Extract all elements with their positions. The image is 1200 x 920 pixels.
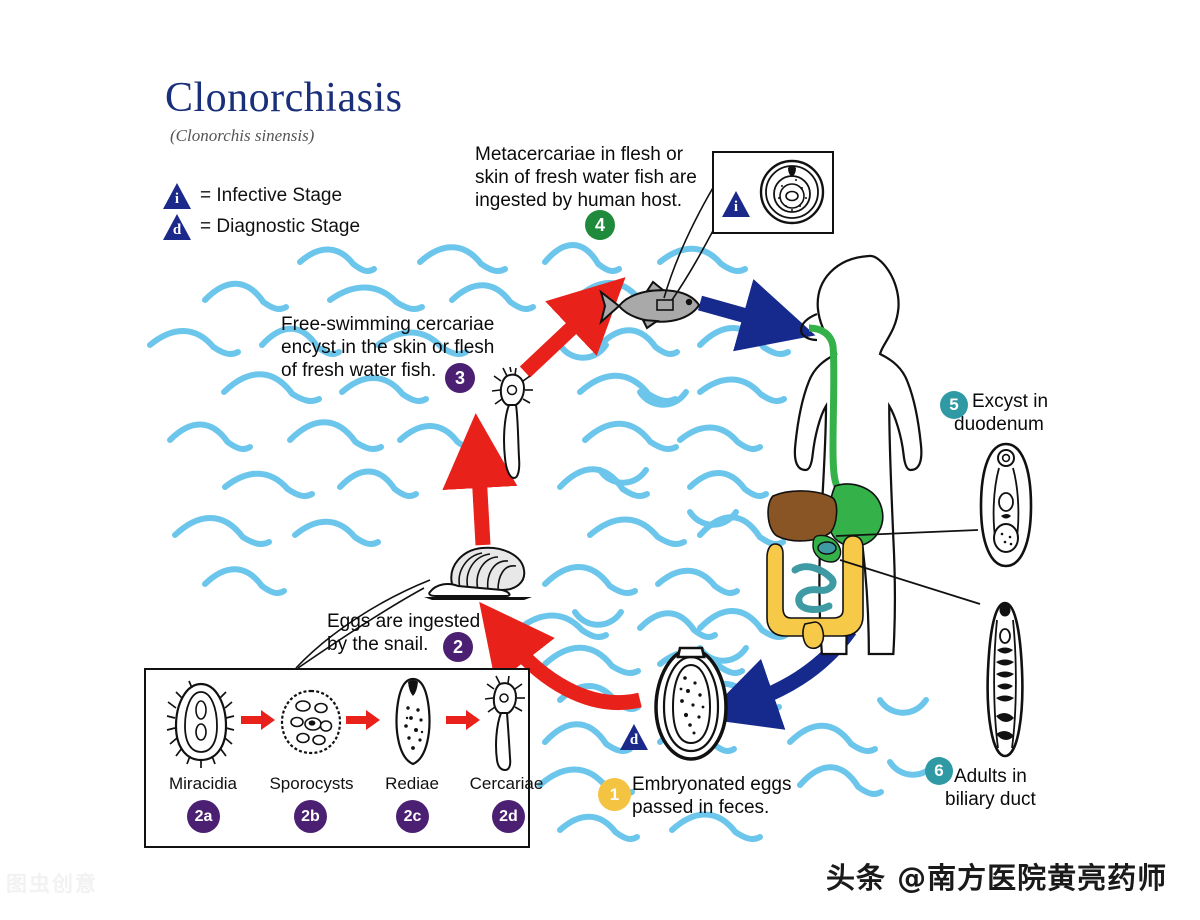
metacercaria-cyst-illustration: [758, 158, 826, 226]
infective-stage-icon: i: [163, 183, 191, 209]
stage-badge-2b: 2b: [294, 800, 327, 833]
legend-diagnostic-stage: d = Diagnostic Stage: [163, 214, 360, 240]
step-1-line-2: passed in feces.: [632, 796, 812, 819]
adult-oral-sucker: [1000, 604, 1011, 617]
egg-operculum: [678, 648, 704, 657]
legend-infective-stage: i = Infective Stage: [163, 183, 342, 209]
stage-badge-2a: 2a: [187, 800, 220, 833]
triangle-glyph: d: [620, 731, 648, 749]
adult-fluke-illustration: [970, 600, 1040, 760]
step-5-text: Excyst in duodenum: [972, 390, 1092, 436]
stage-badge-2c: 2c: [396, 800, 429, 833]
step-4-line-2: skin of fresh water fish are: [475, 166, 735, 189]
cercaria-tail: [504, 405, 519, 478]
stage-label-sporocysts: Sporocysts: [249, 774, 374, 794]
step-6-text: Adults in biliary duct: [954, 765, 1074, 811]
stage-label-miracidia: Miracidia: [148, 774, 258, 794]
step-4-line-1: Metacercariae in flesh or: [475, 143, 735, 166]
step-3-line-2: encyst in the skin or flesh: [281, 336, 526, 359]
step-3-line-1: Free-swimming cercariae: [281, 313, 526, 336]
step-4-text: Metacercariae in flesh or skin of fresh …: [475, 143, 735, 213]
step-badge-3: 3: [445, 363, 475, 393]
redia-illustration: [389, 676, 437, 768]
inset-arrow-2-icon: [346, 710, 380, 730]
sporocyst-illustration: [279, 688, 343, 756]
triangle-glyph: i: [163, 190, 191, 208]
step-6-line-2: biliary duct: [945, 788, 1074, 811]
step-badge-4: 4: [585, 210, 615, 240]
inset-arrow-1-icon: [241, 710, 275, 730]
testes: [994, 524, 1018, 552]
miracidium-illustration: [168, 680, 234, 764]
legend-diagnostic-label: = Diagnostic Stage: [200, 216, 360, 238]
ventral-sucker: [999, 493, 1013, 511]
page-subtitle: (Clonorchis sinensis): [170, 126, 314, 146]
step-2-line-2: by the snail.: [327, 633, 512, 656]
step-6-line-1: Adults in: [954, 765, 1074, 788]
diagram-canvas: i: [0, 0, 1200, 920]
inset-arrow-3-icon: [446, 710, 480, 730]
excysted-metacercaria-illustration: [975, 440, 1037, 570]
triangle-glyph: d: [163, 221, 191, 239]
snail-stages-inset-box: Miracidia 2a Sporocysts 2b: [144, 668, 530, 848]
cercaria-inset-illustration: [484, 676, 526, 772]
step-badge-2: 2: [443, 632, 473, 662]
step-1-line-1: Embryonated eggs: [632, 773, 812, 796]
stock-logo-watermark: 图虫创意: [6, 868, 98, 898]
step-badge-5: 5: [940, 391, 968, 419]
step-2-line-1: Eggs are ingested: [327, 610, 512, 633]
stage-label-rediae: Rediae: [362, 774, 462, 794]
step-3-line-3: of fresh water fish.: [281, 359, 526, 382]
embryonated-egg: [648, 645, 734, 763]
step-1-text: Embryonated eggs passed in feces.: [632, 773, 812, 819]
legend-infective-label: = Infective Stage: [200, 185, 342, 207]
free-swimming-cercaria: [490, 368, 538, 484]
step-2-text: Eggs are ingested by the snail.: [327, 610, 512, 656]
egg-miracidium: [673, 665, 710, 743]
step-5-line-2: duodenum: [954, 413, 1092, 436]
stage-label-cercariae: Cercariae: [449, 774, 564, 794]
step-4-line-3: ingested by human host.: [475, 189, 735, 212]
oral-sucker: [998, 450, 1014, 466]
watermark-text: 头条 @南方医院黄亮药师: [826, 855, 1167, 897]
diagnostic-stage-marker-eggs: d: [620, 724, 648, 750]
step-5-line-1: Excyst in: [972, 390, 1092, 413]
step-badge-6: 6: [925, 757, 953, 785]
step-3-text: Free-swimming cercariae encyst in the sk…: [281, 313, 526, 383]
page-title: Clonorchiasis: [165, 74, 402, 122]
diagnostic-stage-icon: d: [163, 214, 191, 240]
step-badge-1: 1: [598, 778, 631, 811]
stage-badge-2d: 2d: [492, 800, 525, 833]
